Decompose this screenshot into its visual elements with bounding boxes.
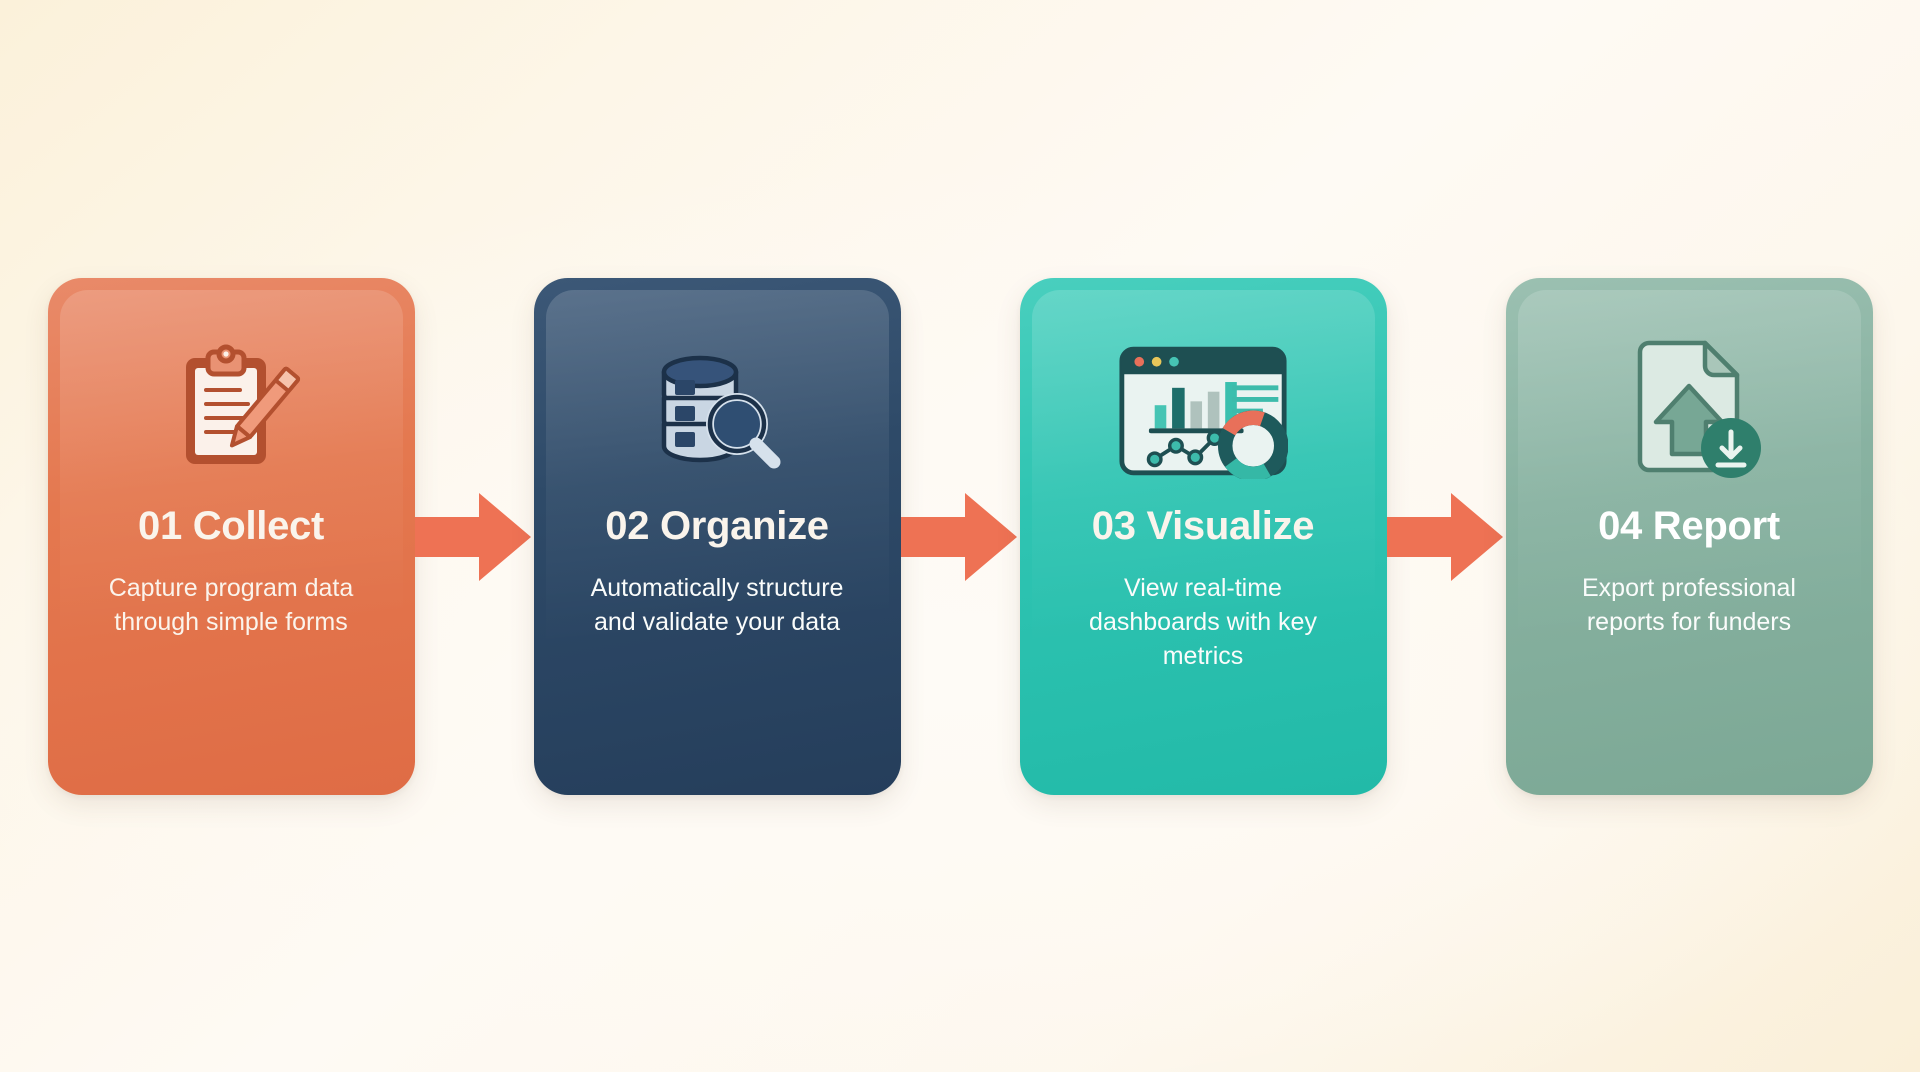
- step-description: View real-time dashboards with key metri…: [1058, 571, 1348, 673]
- step-title: 02 Organize: [605, 504, 828, 549]
- infographic-canvas: 01 Collect Capture program data through …: [0, 0, 1920, 1072]
- step-description: Automatically structure and validate you…: [572, 571, 862, 639]
- step-title: 01 Collect: [138, 504, 324, 549]
- step-description: Export professional reports for funders: [1544, 571, 1834, 639]
- arrow-right-icon: [1387, 487, 1506, 587]
- step-title: 04 Report: [1598, 504, 1780, 549]
- step-description: Capture program data through simple form…: [86, 571, 376, 639]
- arrow-right-icon: [901, 487, 1020, 587]
- clipboard-pencil-icon: [146, 336, 316, 486]
- dashboard-charts-icon: [1118, 336, 1288, 486]
- step-card-visualize[interactable]: 03 Visualize View real-time dashboards w…: [1020, 278, 1387, 795]
- step-title: 03 Visualize: [1092, 504, 1314, 549]
- process-flow: 01 Collect Capture program data through …: [0, 278, 1920, 795]
- step-card-report[interactable]: 04 Report Export professional reports fo…: [1506, 278, 1873, 795]
- document-export-icon: [1604, 336, 1774, 486]
- database-search-icon: [632, 336, 802, 486]
- step-card-organize[interactable]: 02 Organize Automatically structure and …: [534, 278, 901, 795]
- arrow-right-icon: [415, 487, 534, 587]
- step-card-collect[interactable]: 01 Collect Capture program data through …: [48, 278, 415, 795]
